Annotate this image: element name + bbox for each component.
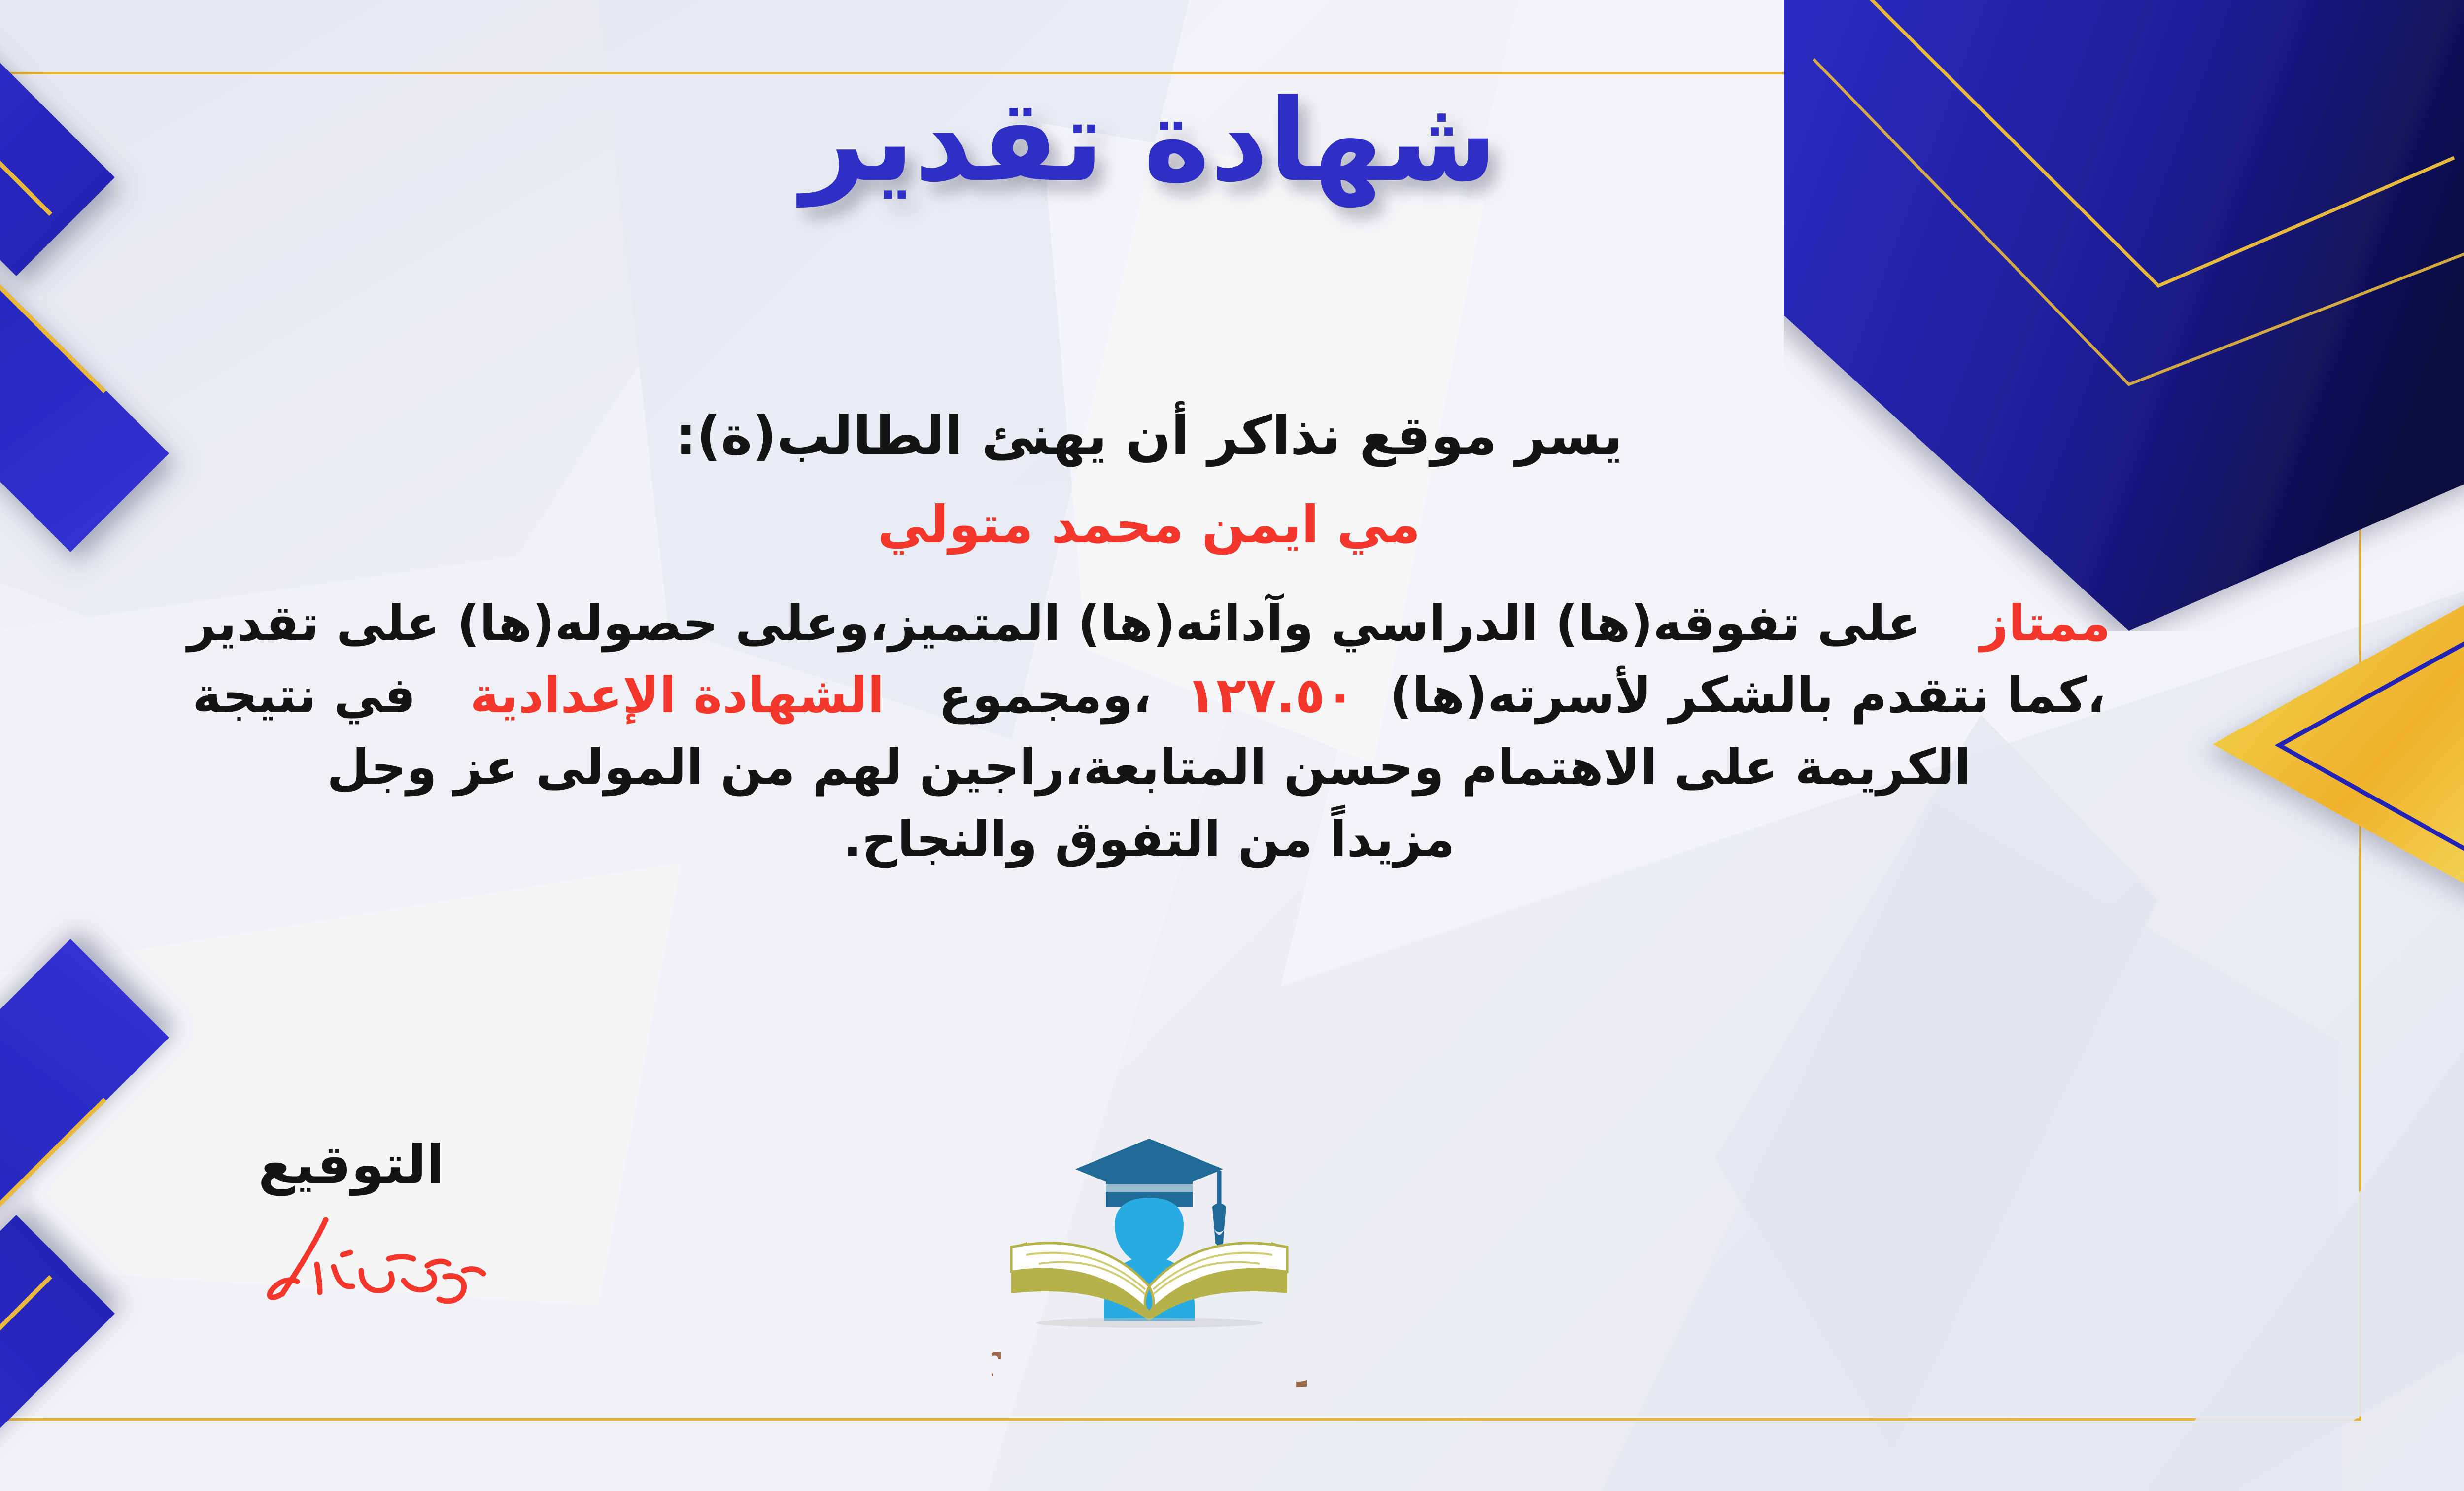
citation-line-2-head: في نتيجة <box>192 666 415 724</box>
greeting-line: يسر موقع نذاكر أن يهنئ الطالب(ة): <box>0 404 2375 468</box>
brand-arabic-text: نذاكر <box>1296 1334 1307 1387</box>
page-title: شهادة تقدير <box>725 74 1573 217</box>
citation-line-1-text: على تفوقه(ها) الدراسي وآدائه(ها) المتميز… <box>187 594 1920 652</box>
citation-line-4: مزيداً من التفوق والنجاح. <box>0 803 2375 875</box>
total-score-value: ١٢٧.٥٠ <box>1186 666 1355 724</box>
citation-line-2-mid: ،ومجموع <box>939 666 1152 724</box>
student-name: مي ايمن محمد متولي <box>0 494 2375 555</box>
citation-line-2-tail: ،كما نتقدم بالشكر لأسرته(ها) <box>1390 666 2106 724</box>
page-title-text: شهادة تقدير <box>796 75 1497 208</box>
grade-badge: ممتاز <box>1980 594 2111 652</box>
brand-logo: Nezakr نذاكر <box>962 1124 1336 1392</box>
citation-line-2: ،كما نتقدم بالشكر لأسرته(ها)١٢٧.٥٠،ومجمو… <box>0 659 2375 731</box>
signature-mark <box>154 1208 548 1313</box>
certificate-body: يسر موقع نذاكر أن يهنئ الطالب(ة): مي ايم… <box>0 404 2375 875</box>
certificate-title-wrap: شهادة تقدير <box>0 74 2464 219</box>
graduate-book-logo-icon <box>992 1124 1307 1331</box>
signature-block: التوقيع <box>154 1139 548 1313</box>
brand-wordmark-svg: Nezakr نذاكر <box>992 1328 1307 1392</box>
certificate-stage-label: الشهادة الإعدادية <box>470 666 885 724</box>
signature-label: التوقيع <box>154 1139 548 1192</box>
handwritten-signature-icon <box>213 1208 489 1311</box>
citation-paragraph: ممتازعلى تفوقه(ها) الدراسي وآدائه(ها) ال… <box>0 588 2375 875</box>
brand-latin-text: Nezakr <box>992 1334 1001 1387</box>
citation-line-3: الكريمة على الاهتمام وحسن المتابعة،راجين… <box>0 731 2375 803</box>
citation-line-1: ممتازعلى تفوقه(ها) الدراسي وآدائه(ها) ال… <box>0 588 2375 659</box>
certificate-canvas: شهادة تقدير يسر موقع نذاكر أن يهنئ الطال… <box>0 0 2464 1491</box>
brand-wordmark: Nezakr نذاكر <box>962 1328 1336 1392</box>
